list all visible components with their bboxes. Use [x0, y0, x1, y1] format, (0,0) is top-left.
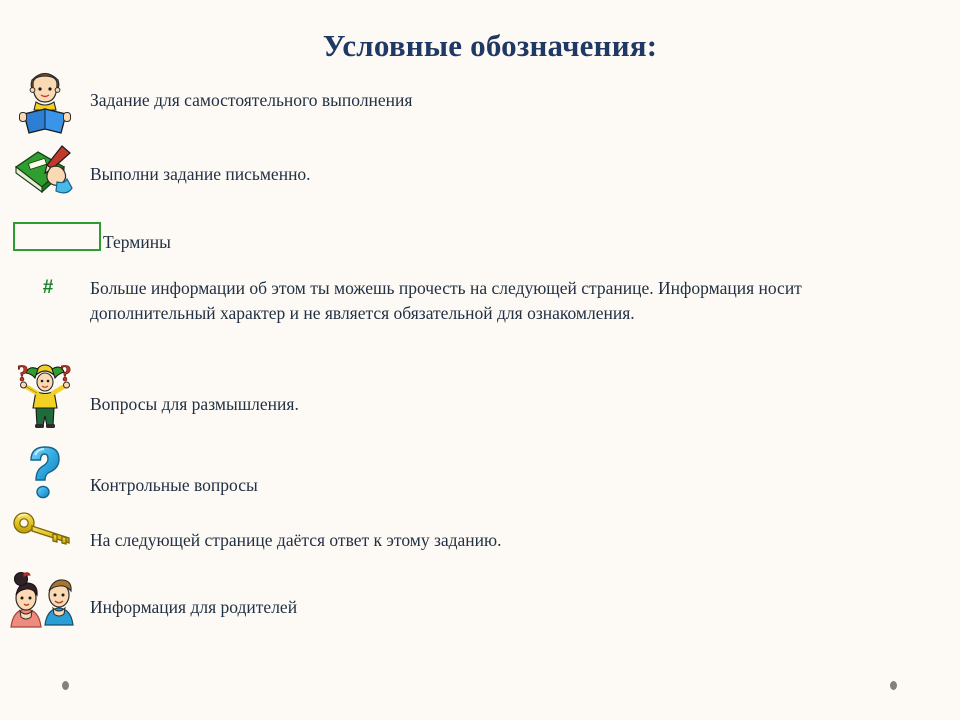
icon-cell: [0, 508, 90, 550]
legend-row-answer-next-page: На следующей странице даётся ответ к это…: [0, 508, 900, 553]
legend-row-extra-info: # Больше информации об этом ты можешь пр…: [0, 276, 900, 326]
svg-text:?: ?: [60, 361, 72, 386]
svg-text:?: ?: [17, 361, 29, 386]
couple-parents-icon: [7, 565, 83, 631]
hand-writing-notebook-icon: [8, 140, 82, 202]
icon-cell: [0, 62, 90, 136]
icon-cell: [0, 140, 90, 202]
blue-question-mark-icon: [17, 443, 73, 503]
legend-label-control-questions: Контрольные вопросы: [90, 473, 258, 498]
icon-cell: [0, 443, 90, 503]
gold-key-icon: [9, 508, 81, 550]
slide-canvas: Условные обозначения:: [0, 0, 960, 720]
legend-label-terms: Термины: [103, 230, 171, 255]
icon-cell: [0, 565, 90, 631]
legend-row-terms: Термины: [0, 222, 900, 255]
legend-label-self-study: Задание для самостоятельного выполнения: [90, 88, 412, 113]
legend-label-parents-info: Информация для родителей: [90, 595, 297, 620]
legend-row-parents-info: Информация для родителей: [0, 565, 900, 631]
legend-row-reflection: ? ? Вопросы для размышления.: [0, 360, 900, 430]
legend-label-extra-info: Больше информации об этом ты можешь проч…: [90, 276, 870, 326]
legend-row-write-task: Выполни задание письменно.: [0, 140, 900, 202]
icon-cell: #: [0, 276, 90, 297]
jester-with-question-marks-icon: ? ?: [8, 360, 82, 430]
legend-label-write-task: Выполни задание письменно.: [90, 162, 311, 187]
icon-cell: [0, 222, 103, 251]
green-rectangle-icon: [13, 222, 101, 251]
legend-label-reflection: Вопросы для размышления.: [90, 392, 299, 417]
page-title: Условные обозначения:: [0, 28, 960, 64]
hash-icon: #: [43, 278, 54, 297]
bullet-dot-right: [890, 681, 897, 690]
icon-cell: ? ?: [0, 360, 90, 430]
legend-row-self-study: Задание для самостоятельного выполнения: [0, 62, 900, 136]
bullet-dot-left: [62, 681, 69, 690]
legend-label-answer-next-page: На следующей странице даётся ответ к это…: [90, 528, 501, 553]
boy-reading-book-icon: [8, 62, 82, 136]
legend-row-control-questions: Контрольные вопросы: [0, 443, 900, 503]
